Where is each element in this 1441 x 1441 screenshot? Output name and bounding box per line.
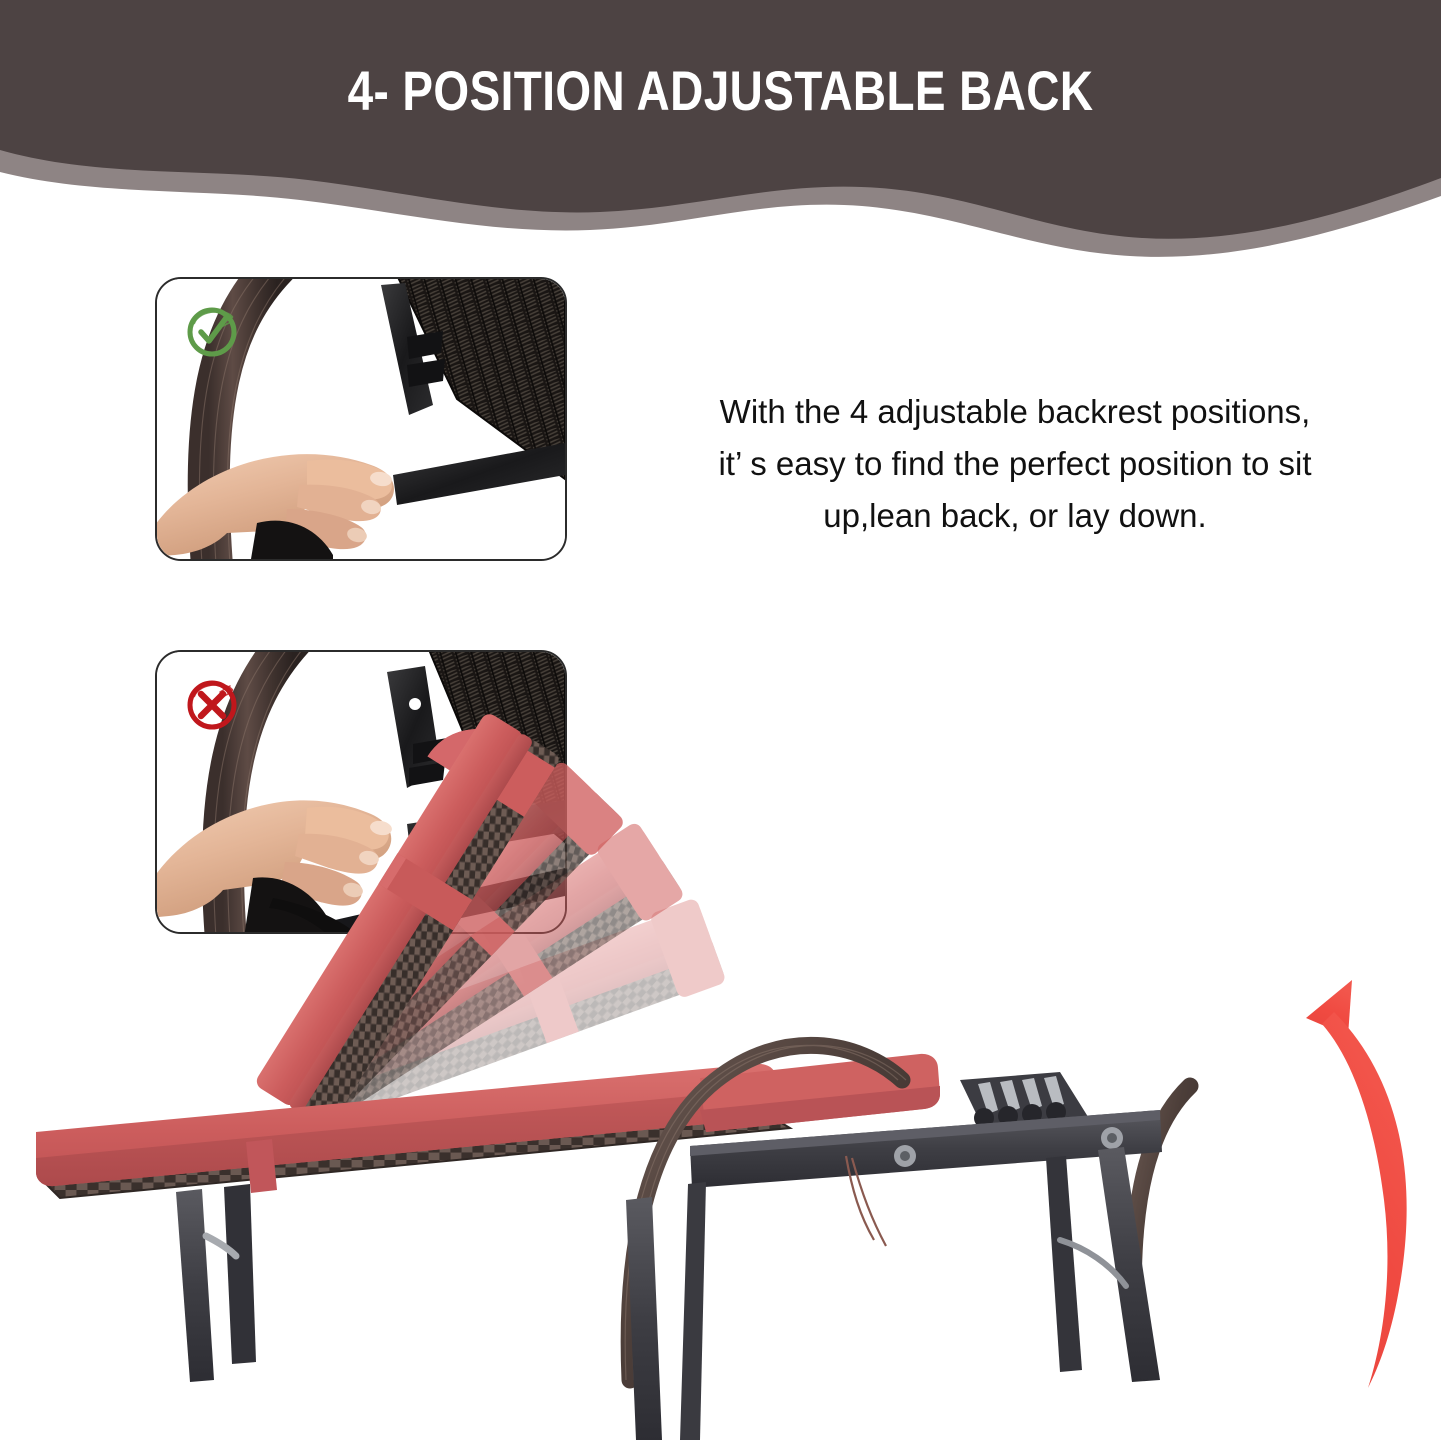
page-title: 4- POSITION ADJUSTABLE BACK <box>130 58 1312 123</box>
header-banner: 4- POSITION ADJUSTABLE BACK <box>0 0 1441 260</box>
photo-card-correct-usage <box>155 277 567 561</box>
header-wave-shape <box>0 0 1441 260</box>
product-illustration-chaise-lounge <box>0 680 1441 1441</box>
leg-front-inner <box>224 1184 256 1364</box>
description-line-2: it’ s easy to find the perfect position … <box>620 438 1410 490</box>
description-line-3: up,lean back, or lay down. <box>620 490 1410 542</box>
leg-mid <box>626 1197 662 1440</box>
feature-description: With the 4 adjustable backrest positions… <box>620 386 1410 542</box>
description-line-1: With the 4 adjustable backrest positions… <box>620 386 1410 438</box>
leg-rear-inner <box>1046 1156 1082 1372</box>
check-circle-icon <box>182 301 242 361</box>
leg-front-outer <box>176 1189 214 1382</box>
x-circle-icon <box>182 674 242 734</box>
leg-mid-back <box>680 1182 706 1440</box>
recline-arrow-tail <box>1322 1012 1407 1388</box>
